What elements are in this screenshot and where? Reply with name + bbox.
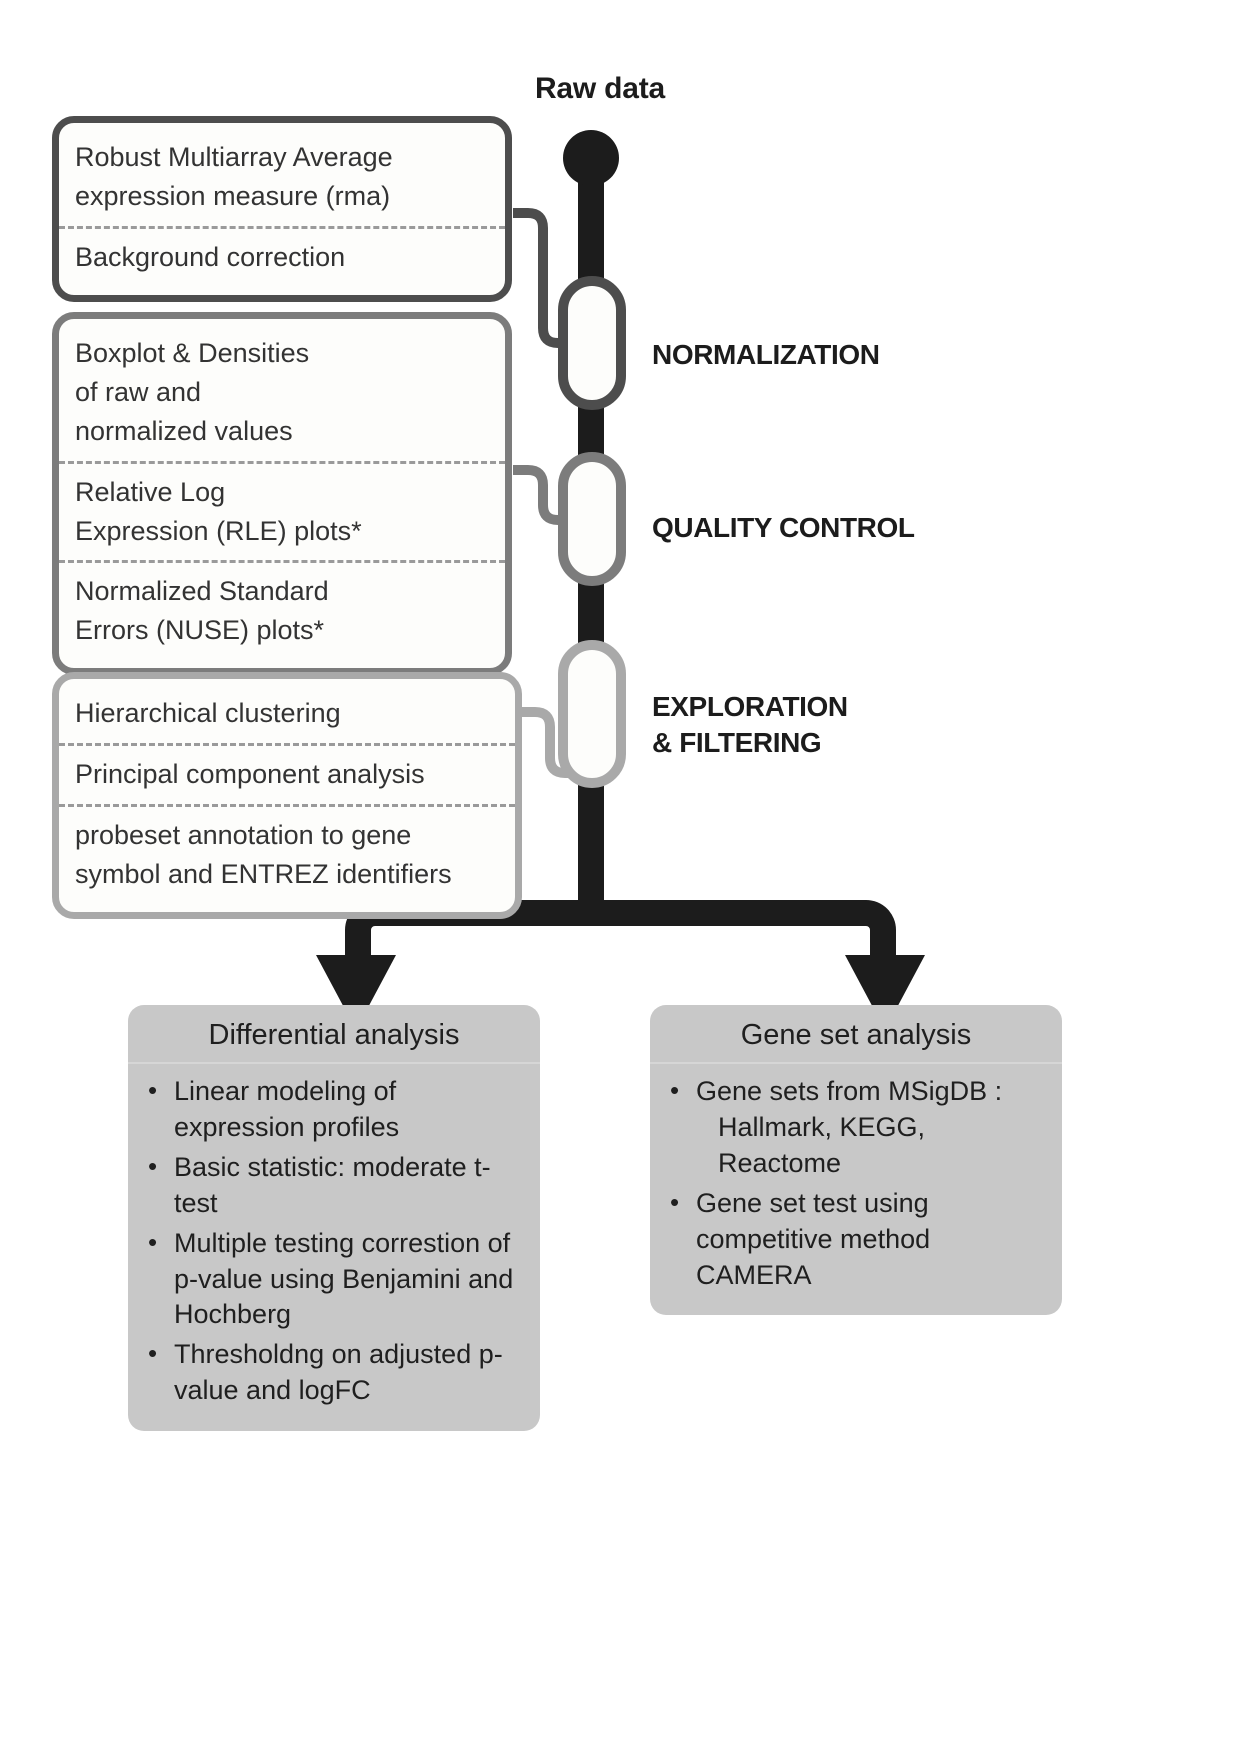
stage-item: Robust Multiarray Average expression mea… — [59, 129, 505, 226]
list-item: Thresholdng on adjusted p-value and logF… — [146, 1337, 524, 1409]
panel-bullet-list: Linear modeling of expression profiles B… — [128, 1064, 540, 1431]
spine-group — [563, 130, 619, 895]
stage-item: Relative Log Expression (RLE) plots* — [59, 461, 505, 561]
output-panel-gene-set-analysis: Gene set analysis Gene sets from MSigDB … — [650, 1005, 1062, 1315]
list-item: Basic statistic: moderate t-test — [146, 1150, 524, 1222]
spine-line — [578, 165, 604, 895]
root-node-dot — [563, 130, 619, 186]
stage-label-normalization: NORMALIZATION — [652, 337, 880, 373]
stage-item: Hierarchical clustering — [59, 685, 515, 743]
panel-title: Differential analysis — [128, 1005, 540, 1064]
panel-bullet-list: Gene sets from MSigDB : Hallmark, KEGG, … — [650, 1064, 1062, 1315]
panel-title: Gene set analysis — [650, 1005, 1062, 1064]
list-item: Multiple testing correstion of p-value u… — [146, 1226, 524, 1334]
list-item: Linear modeling of expression profiles — [146, 1074, 524, 1146]
stage-label-quality-control: QUALITY CONTROL — [652, 510, 915, 546]
stage-item: probeset annotation to gene symbol and E… — [59, 804, 515, 904]
diagram-canvas: Raw data Robust Multiarray Average expre… — [0, 0, 1240, 1753]
stage-item: Boxplot & Densities of raw and normalize… — [59, 325, 505, 461]
stage-pill-normalization — [513, 213, 621, 405]
list-item-continuation: Hallmark, KEGG, Reactome — [696, 1110, 1046, 1182]
list-item: Gene sets from MSigDB : Hallmark, KEGG, … — [668, 1074, 1046, 1182]
stage-item: Background correction — [59, 226, 505, 287]
stage-item: Normalized Standard Errors (NUSE) plots* — [59, 560, 505, 660]
list-item-text: Gene sets from MSigDB : — [696, 1076, 1002, 1106]
stage-box-normalization: Robust Multiarray Average expression mea… — [52, 116, 512, 302]
spine-tee — [578, 880, 604, 926]
stage-box-exploration-filtering: Hierarchical clustering Principal compon… — [52, 672, 522, 919]
page-title: Raw data — [470, 72, 730, 106]
stage-box-quality-control: Boxplot & Densities of raw and normalize… — [52, 312, 512, 675]
list-item: Gene set test using competitive method C… — [668, 1186, 1046, 1294]
stage-pill-quality-control — [513, 457, 621, 581]
stage-item: Principal component analysis — [59, 743, 515, 804]
stage-pill-exploration — [520, 645, 621, 783]
output-panel-differential-analysis: Differential analysis Linear modeling of… — [128, 1005, 540, 1431]
stage-label-exploration-filtering: EXPLORATION & FILTERING — [652, 689, 848, 761]
